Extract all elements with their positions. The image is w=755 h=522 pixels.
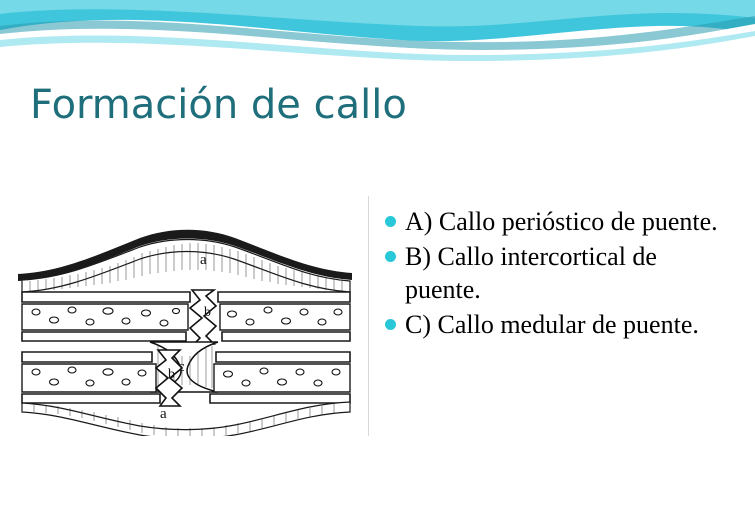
figure-label-a-bottom: a bbox=[160, 406, 167, 422]
bullet-list: A) Callo perióstico de puente. B) Callo … bbox=[385, 205, 745, 343]
bullet-dot-icon bbox=[385, 216, 396, 227]
bullet-text: A) Callo perióstico de puente. bbox=[405, 205, 718, 238]
figure-label-b-bottom: b bbox=[168, 367, 175, 382]
list-item: A) Callo perióstico de puente. bbox=[385, 205, 745, 238]
bullet-dot-icon bbox=[385, 251, 396, 262]
header-wave-graphic bbox=[0, 0, 755, 62]
bullet-dot-icon bbox=[385, 319, 396, 330]
slide: Formación de callo bbox=[0, 0, 755, 522]
bone-callus-diagram: a b bbox=[0, 196, 368, 436]
bullet-text: C) Callo medular de puente. bbox=[405, 308, 699, 341]
figure-label-a-top: a bbox=[200, 252, 207, 268]
page-title: Formación de callo bbox=[30, 82, 407, 128]
header-decoration bbox=[0, 0, 755, 62]
list-item: C) Callo medular de puente. bbox=[385, 308, 745, 341]
figure-image: a b bbox=[0, 196, 369, 436]
figure-label-b-top: b bbox=[204, 305, 211, 320]
bullet-text: B) Callo intercortical de puente. bbox=[405, 240, 725, 306]
list-item: B) Callo intercortical de puente. bbox=[385, 240, 745, 306]
